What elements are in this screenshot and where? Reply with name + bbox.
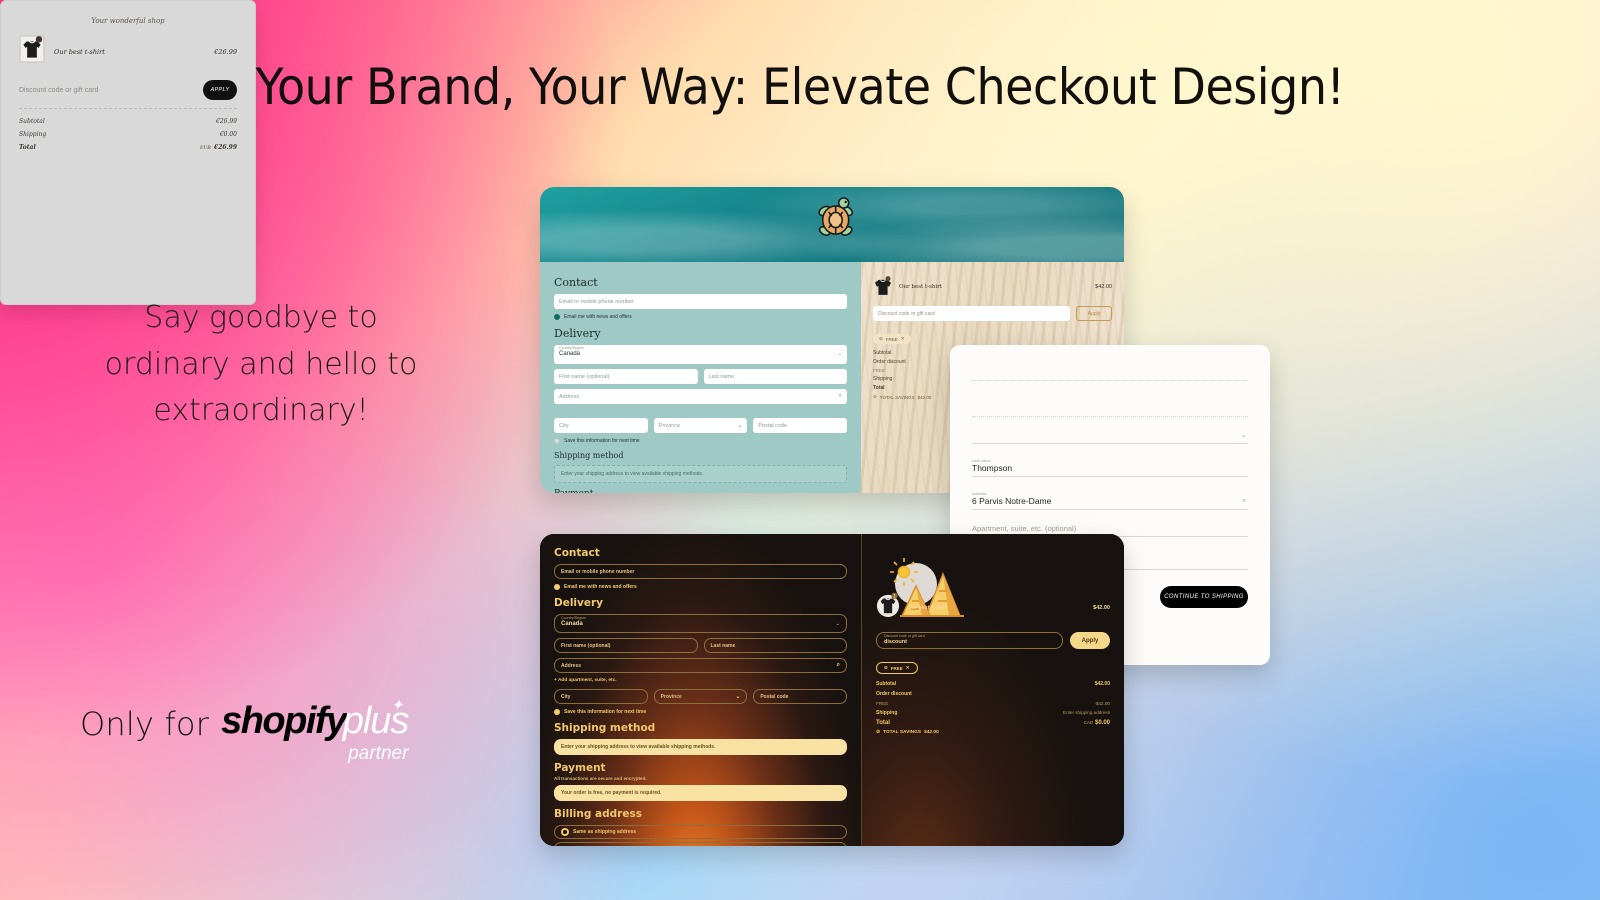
search-icon: ⌕: [839, 393, 842, 400]
apply-button[interactable]: Apply: [1070, 632, 1110, 649]
check-icon: [554, 314, 560, 320]
newsletter-checkbox[interactable]: Email me with news and offers: [554, 314, 847, 320]
placeholder-field-2: [972, 395, 1248, 417]
dark-order-summary: 1 Our best t-shirt $42.00 Discount code …: [861, 534, 1124, 846]
tshirt-icon: 1: [876, 592, 900, 623]
brand-prefix: Only for: [80, 705, 209, 743]
first-name-input[interactable]: First name (optional): [554, 638, 698, 653]
add-apartment-link[interactable]: + Add apartment, suite, etc.: [554, 678, 847, 683]
billing-same-radio[interactable]: Same as shipping address: [554, 825, 847, 839]
discount-tag[interactable]: ⊘ FREE ✕: [876, 662, 918, 674]
email-input[interactable]: Email or mobile phone number: [554, 564, 847, 579]
country-select[interactable]: Country/Region Canada ⌄: [554, 614, 847, 633]
contact-heading: Contact: [554, 547, 847, 559]
shopify-wordmark: shopify: [221, 700, 346, 743]
last-name-field[interactable]: Last name Thompson: [972, 458, 1248, 477]
order-discount-row: Order discount: [876, 691, 1110, 697]
billing-different-radio[interactable]: Use a different billing address: [554, 842, 847, 846]
chevron-down-icon: ⌄: [735, 693, 740, 700]
contact-heading: Contact: [554, 276, 847, 289]
checkbox-icon: [554, 438, 560, 444]
city-input[interactable]: City: [554, 689, 648, 704]
remove-icon[interactable]: ✕: [906, 665, 910, 671]
free-discount-row: FREE -$42.00: [876, 701, 1110, 706]
continue-to-shipping-button[interactable]: CONTINUE TO SHIPPING: [1160, 586, 1248, 608]
partner-wordmark: partner: [348, 743, 408, 765]
tag-icon: ⊘: [873, 394, 877, 400]
save-info-checkbox[interactable]: Save this information for next time: [554, 709, 847, 715]
address-field[interactable]: Address 6 Parvis Notre-Dame ⌕: [972, 491, 1248, 510]
address-input[interactable]: Address ⌕: [554, 389, 847, 404]
chevron-down-icon: ⌄: [737, 422, 742, 429]
shipping-method-heading: Shipping method: [554, 451, 847, 460]
discount-input[interactable]: Discount code or gift card: [873, 306, 1070, 321]
tshirt-icon: [19, 35, 45, 68]
tshirt-icon: [873, 276, 893, 298]
email-input[interactable]: Email or mobile phone number: [554, 294, 847, 309]
country-select[interactable]: ⌄: [972, 431, 1248, 444]
search-icon: ⌕: [1243, 498, 1246, 505]
payment-note: All transactions are secure and encrypte…: [554, 776, 847, 781]
svg-text:1: 1: [893, 593, 896, 598]
item-name: Our best t-shirt: [907, 605, 947, 611]
tag-icon: ⊘: [879, 336, 883, 342]
turtle-icon: [813, 195, 859, 243]
beach-hero-banner: [540, 187, 1124, 262]
item-price: $42.00: [1093, 605, 1110, 611]
country-select[interactable]: Country/Region Canada ⌄: [554, 345, 847, 364]
subtotal-row: Subtotal $42.00: [876, 681, 1110, 687]
tag-icon: ⊘: [884, 665, 888, 671]
province-select[interactable]: Province ⌄: [654, 689, 748, 704]
shop-title: Your wonderful shop: [19, 17, 237, 25]
last-name-input[interactable]: Last name: [704, 638, 848, 653]
sparkle-icon: ✦: [391, 696, 403, 714]
shipping-method-note: Enter your shipping address to view avai…: [554, 465, 847, 483]
plus-wordmark: plus✦: [343, 700, 409, 743]
chevron-down-icon: ⌄: [836, 621, 840, 627]
page-title: Your Brand, Your Way: Elevate Checkout D…: [64, 58, 1536, 116]
item-name: Our best t-shirt: [899, 284, 942, 290]
postal-code-input[interactable]: Postal code: [753, 689, 847, 704]
dark-form-column: Contact Email or mobile phone number Ema…: [540, 534, 861, 846]
beach-form-column: Contact Email or mobile phone number Ema…: [540, 262, 861, 493]
search-icon: ⌕: [837, 662, 840, 669]
total-row: Total CAD $0.00: [876, 720, 1110, 726]
gray-order-summary-card: Your wonderful shop Our best t-shirt €26…: [0, 0, 256, 305]
payment-heading: Payment: [554, 762, 847, 774]
placeholder-field-1: [972, 359, 1248, 381]
last-name-input[interactable]: Last name: [704, 369, 848, 384]
total-savings-row: ⊘ TOTAL SAVINGS $42.00: [876, 730, 1110, 735]
shipping-method-heading: Shipping method: [554, 722, 847, 734]
city-input[interactable]: City: [554, 418, 648, 433]
remove-icon[interactable]: ✕: [901, 336, 905, 342]
shipping-method-note: Enter your shipping address to view avai…: [554, 739, 847, 755]
newsletter-checkbox[interactable]: Email me with news and offers: [554, 584, 847, 590]
discount-input[interactable]: Discount code or gift card discount: [876, 632, 1063, 649]
apply-button[interactable]: Apply: [1076, 306, 1112, 321]
shipping-row: Shipping Enter shipping address: [876, 710, 1110, 716]
item-price: $42.00: [1095, 284, 1112, 290]
first-name-input[interactable]: First name (optional): [554, 369, 698, 384]
postal-code-input[interactable]: Postal code: [753, 418, 847, 433]
hero-subcopy: Say goodbye to ordinary and hello to ext…: [96, 295, 426, 435]
payment-heading: Payment: [554, 489, 847, 493]
summary-line-item: Our best t-shirt $42.00: [873, 276, 1112, 298]
item-price: €26.99: [214, 48, 237, 56]
payment-free-note: Your order is free, no payment is requir…: [554, 785, 847, 801]
total-row: Total EUR€26.99: [19, 144, 237, 151]
billing-address-heading: Billing address: [554, 808, 847, 820]
discount-tag[interactable]: ⊘ FREE ✕: [873, 334, 911, 344]
summary-line-item: 1 Our best t-shirt $42.00: [876, 592, 1110, 623]
delivery-heading: Delivery: [554, 327, 847, 340]
shipping-row: Shipping €0.00: [19, 131, 237, 138]
check-icon: [554, 584, 560, 590]
address-input[interactable]: Address ⌕: [554, 658, 847, 673]
chevron-down-icon: ⌄: [1241, 432, 1246, 439]
delivery-heading: Delivery: [554, 597, 847, 609]
radio-selected-icon: [562, 829, 568, 835]
item-name: Our best t-shirt: [54, 48, 105, 56]
save-info-checkbox[interactable]: Save this information for next time: [554, 438, 847, 444]
tag-icon: ⊘: [876, 730, 880, 735]
chevron-down-icon: ⌄: [838, 351, 842, 357]
dark-checkout-card: Contact Email or mobile phone number Ema…: [540, 534, 1124, 846]
checkbox-icon: [554, 709, 560, 715]
shopify-plus-partner-logo: Only for shopify plus✦ partner: [80, 700, 408, 743]
province-select[interactable]: Province ⌄: [654, 418, 748, 433]
subtotal-row: Subtotal €26.99: [19, 118, 237, 125]
